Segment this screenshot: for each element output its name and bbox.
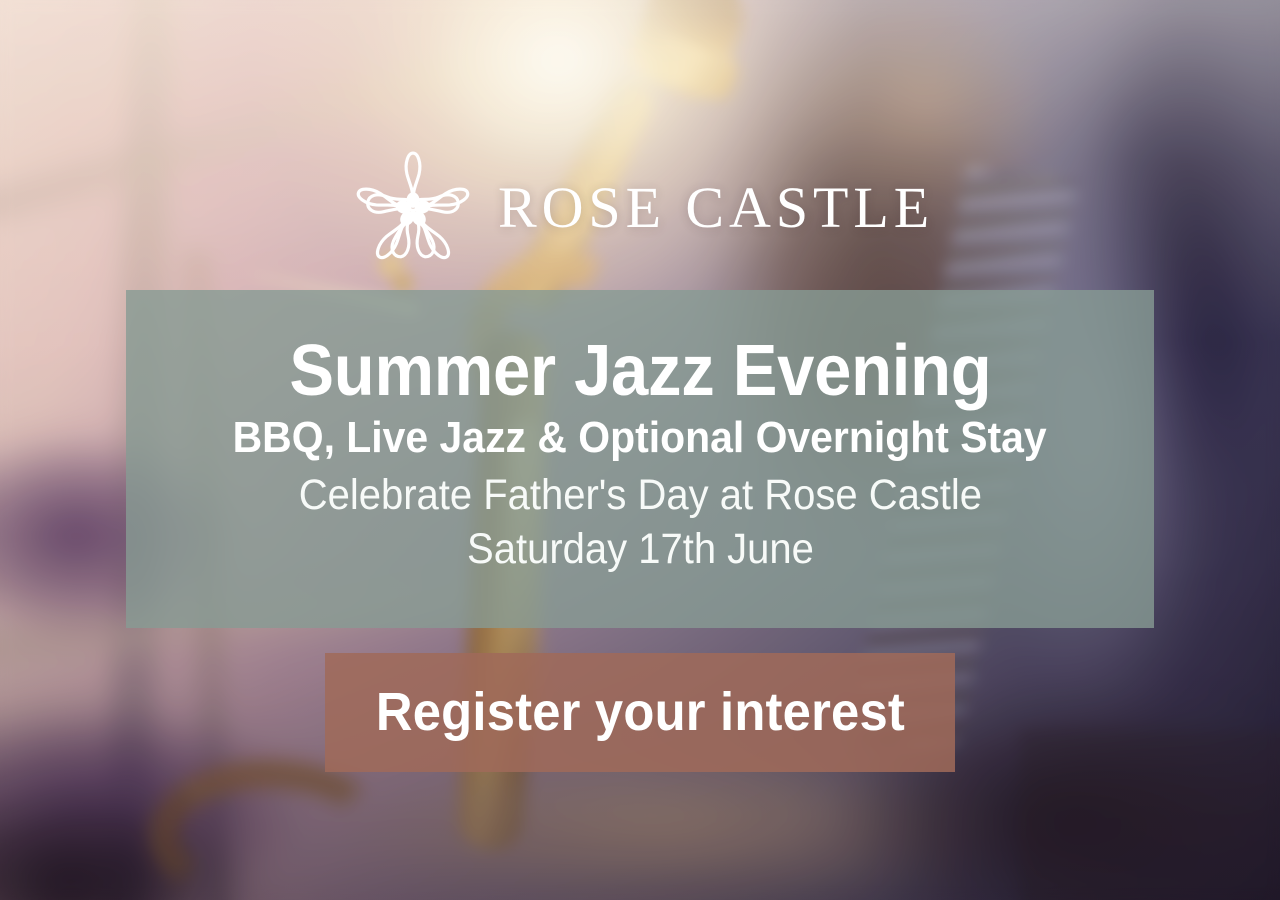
rose-flower-outline-icon (352, 147, 474, 269)
brand-wordmark: ROSE CASTLE (498, 179, 934, 237)
register-interest-button[interactable]: Register your interest (325, 653, 955, 772)
event-headline: Summer Jazz Evening (289, 334, 991, 409)
event-subheadline: BBQ, Live Jazz & Optional Overnight Stay (233, 413, 1047, 462)
brand-logo-lockup[interactable]: ROSE CASTLE (352, 148, 934, 268)
register-interest-label: Register your interest (375, 653, 904, 772)
promo-banner: ROSE CASTLE Summer Jazz Evening BBQ, Liv… (0, 0, 1280, 900)
event-detail-line-2: Saturday 17th June (467, 522, 814, 576)
event-detail-line-1: Celebrate Father's Day at Rose Castle (298, 468, 981, 522)
event-info-panel: Summer Jazz Evening BBQ, Live Jazz & Opt… (126, 290, 1154, 628)
